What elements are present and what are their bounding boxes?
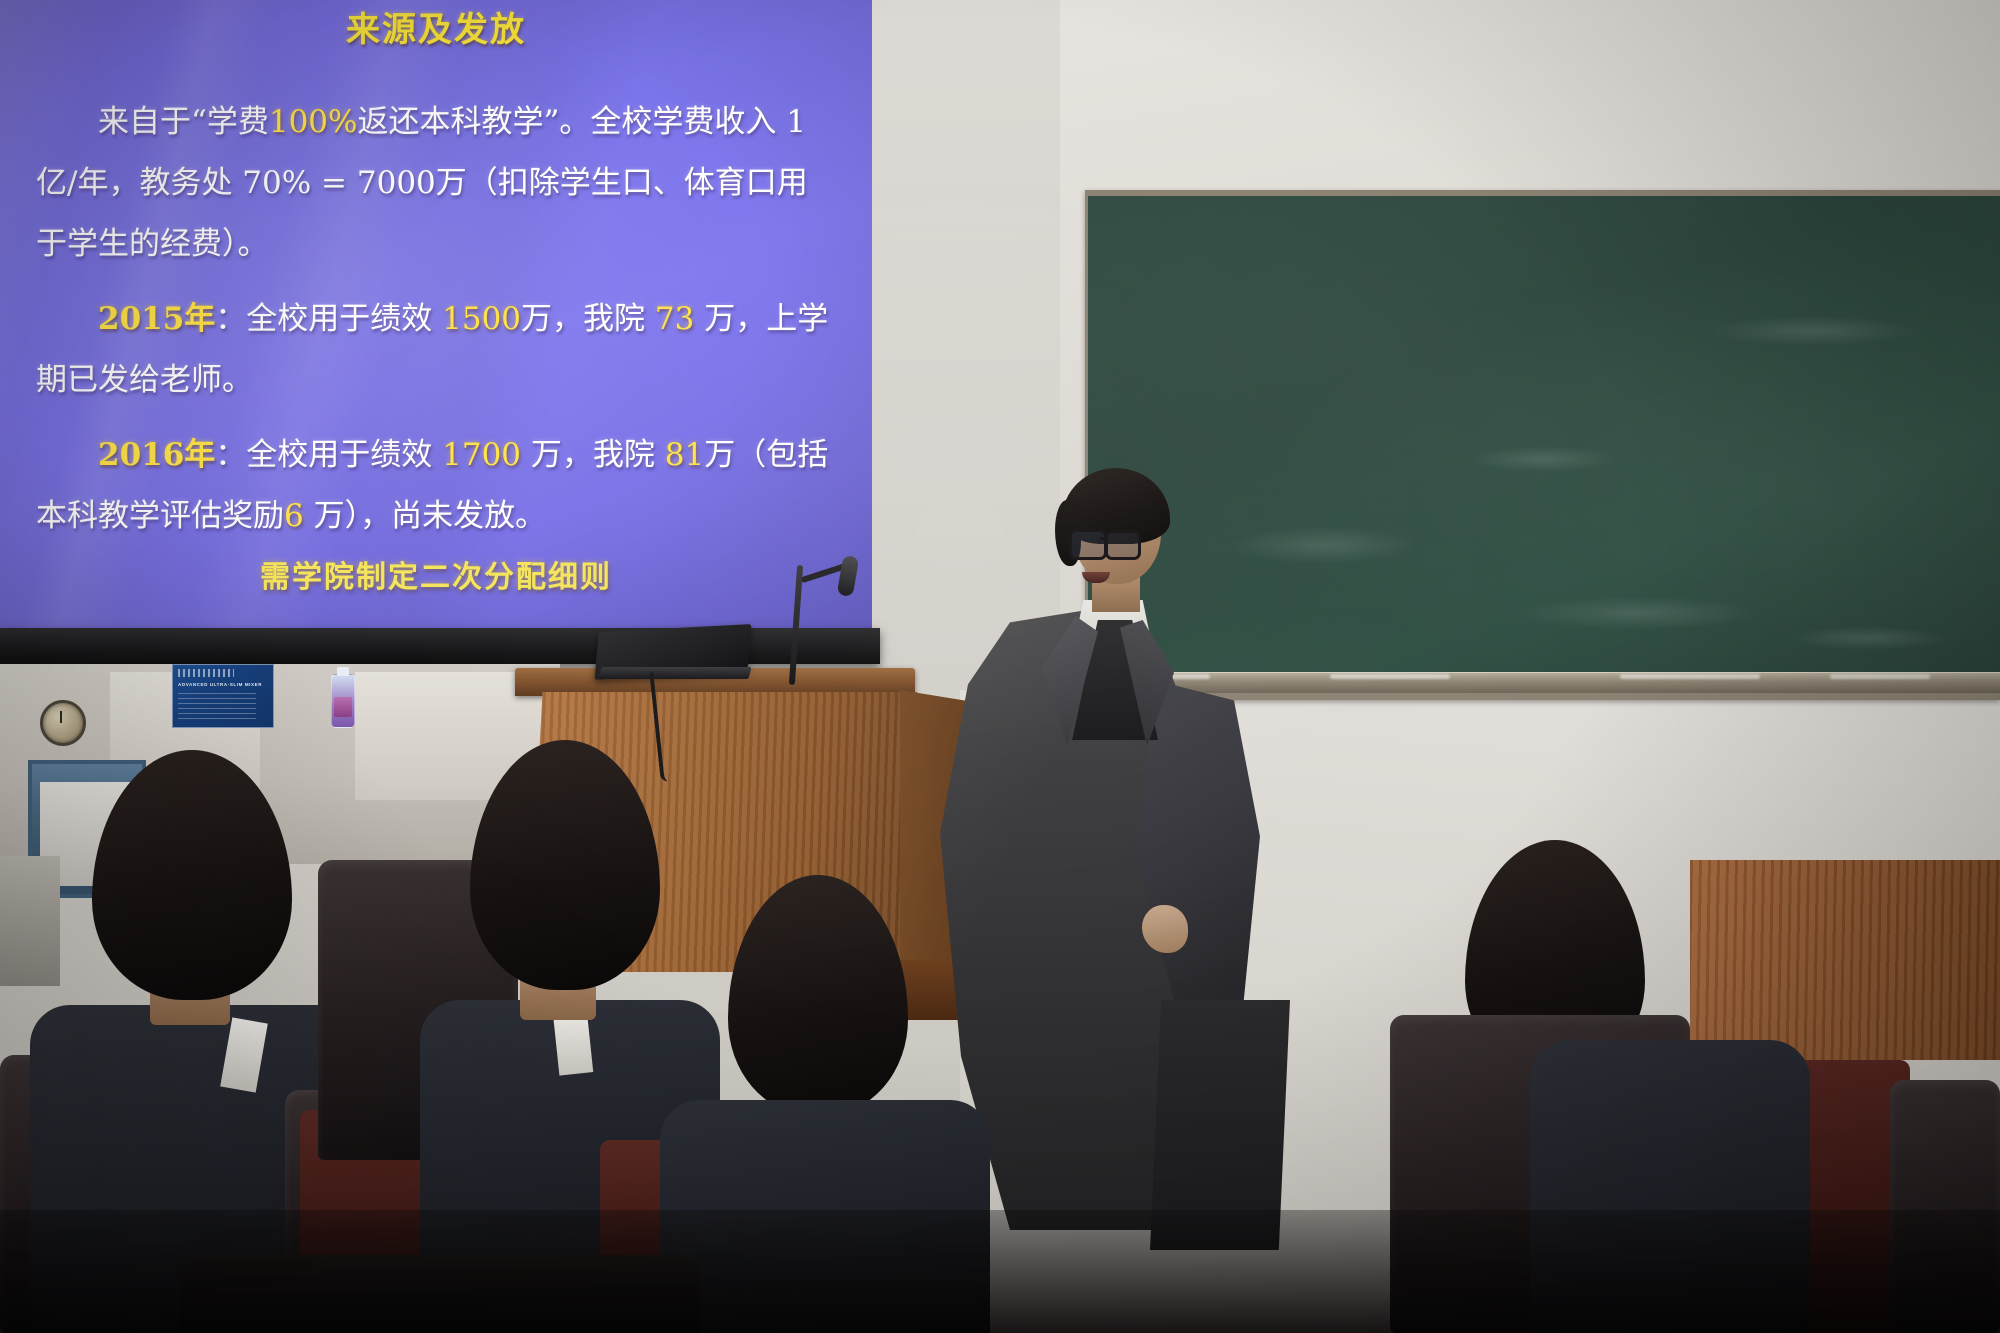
slide-text-run: 1700 <box>442 437 521 473</box>
bottle-label <box>334 697 352 717</box>
speaker-hand <box>1142 905 1188 953</box>
slide-paragraph-2016: 2016年：全校用于绩效 1700 万，我院 81万（包括本科教学评估奖励6 万… <box>36 425 836 547</box>
slide-text-run: 1500 <box>442 301 521 337</box>
projected-slide: 来源及发放 来自于“学费100%返还本科教学”。全校学费收入 1 亿/年，教务处… <box>0 0 872 636</box>
lecture-hall-photo: 来源及发放 来自于“学费100%返还本科教学”。全校学费收入 1 亿/年，教务处… <box>0 0 2000 1333</box>
equipment-poster: ADVANCED ULTRA-SLIM MIXER <box>172 664 274 728</box>
slide-text-run: 2015年 <box>98 301 215 337</box>
slide-text-run: 万，我院 <box>521 437 665 473</box>
poster-header-bars <box>178 669 234 677</box>
slide-text-run: 来自于“学费 <box>98 104 269 140</box>
speaker-glasses-bridge <box>1100 537 1108 540</box>
slide-conclusion: 需学院制定二次分配细则 <box>0 552 872 596</box>
slide-body: 来自于“学费100%返还本科教学”。全校学费收入 1 亿/年，教务处 70% =… <box>36 92 836 561</box>
wall-clock <box>40 700 86 746</box>
slide-text-run: 100% <box>269 104 358 140</box>
slide-text-run: 81 <box>665 437 704 473</box>
slide-text-run: 73 <box>655 301 694 337</box>
slide-text-run: 6 <box>284 498 304 534</box>
slide-paragraph-source: 来自于“学费100%返还本科教学”。全校学费收入 1 亿/年，教务处 70% =… <box>36 92 836 275</box>
slide-text-run: 万），尚未发放。 <box>304 498 546 534</box>
water-bottle <box>331 674 355 728</box>
poster-title: ADVANCED ULTRA-SLIM MIXER <box>178 682 262 687</box>
grey-cabinet <box>0 856 60 986</box>
slide-text-run: ：全校用于绩效 <box>215 437 442 473</box>
speaker-glasses-right-lens <box>1105 530 1141 560</box>
side-desk <box>1690 860 2000 1060</box>
slide-paragraph-2015: 2015年：全校用于绩效 1500万，我院 73 万，上学期已发给老师。 <box>36 289 836 411</box>
poster-body-lines <box>178 693 256 721</box>
speaker-glasses-left-lens <box>1069 529 1107 560</box>
slide-text-run: 2016年 <box>98 437 215 473</box>
slide-title: 来源及发放 <box>0 2 872 51</box>
bottle-cap <box>337 667 349 676</box>
slide-text-run: ：全校用于绩效 <box>215 301 442 337</box>
chalkboard <box>1088 196 2000 678</box>
laptop-keyboard-base <box>599 667 752 679</box>
foreground-shadow <box>0 1210 2000 1333</box>
slide-text-run: 万，我院 <box>521 301 655 337</box>
